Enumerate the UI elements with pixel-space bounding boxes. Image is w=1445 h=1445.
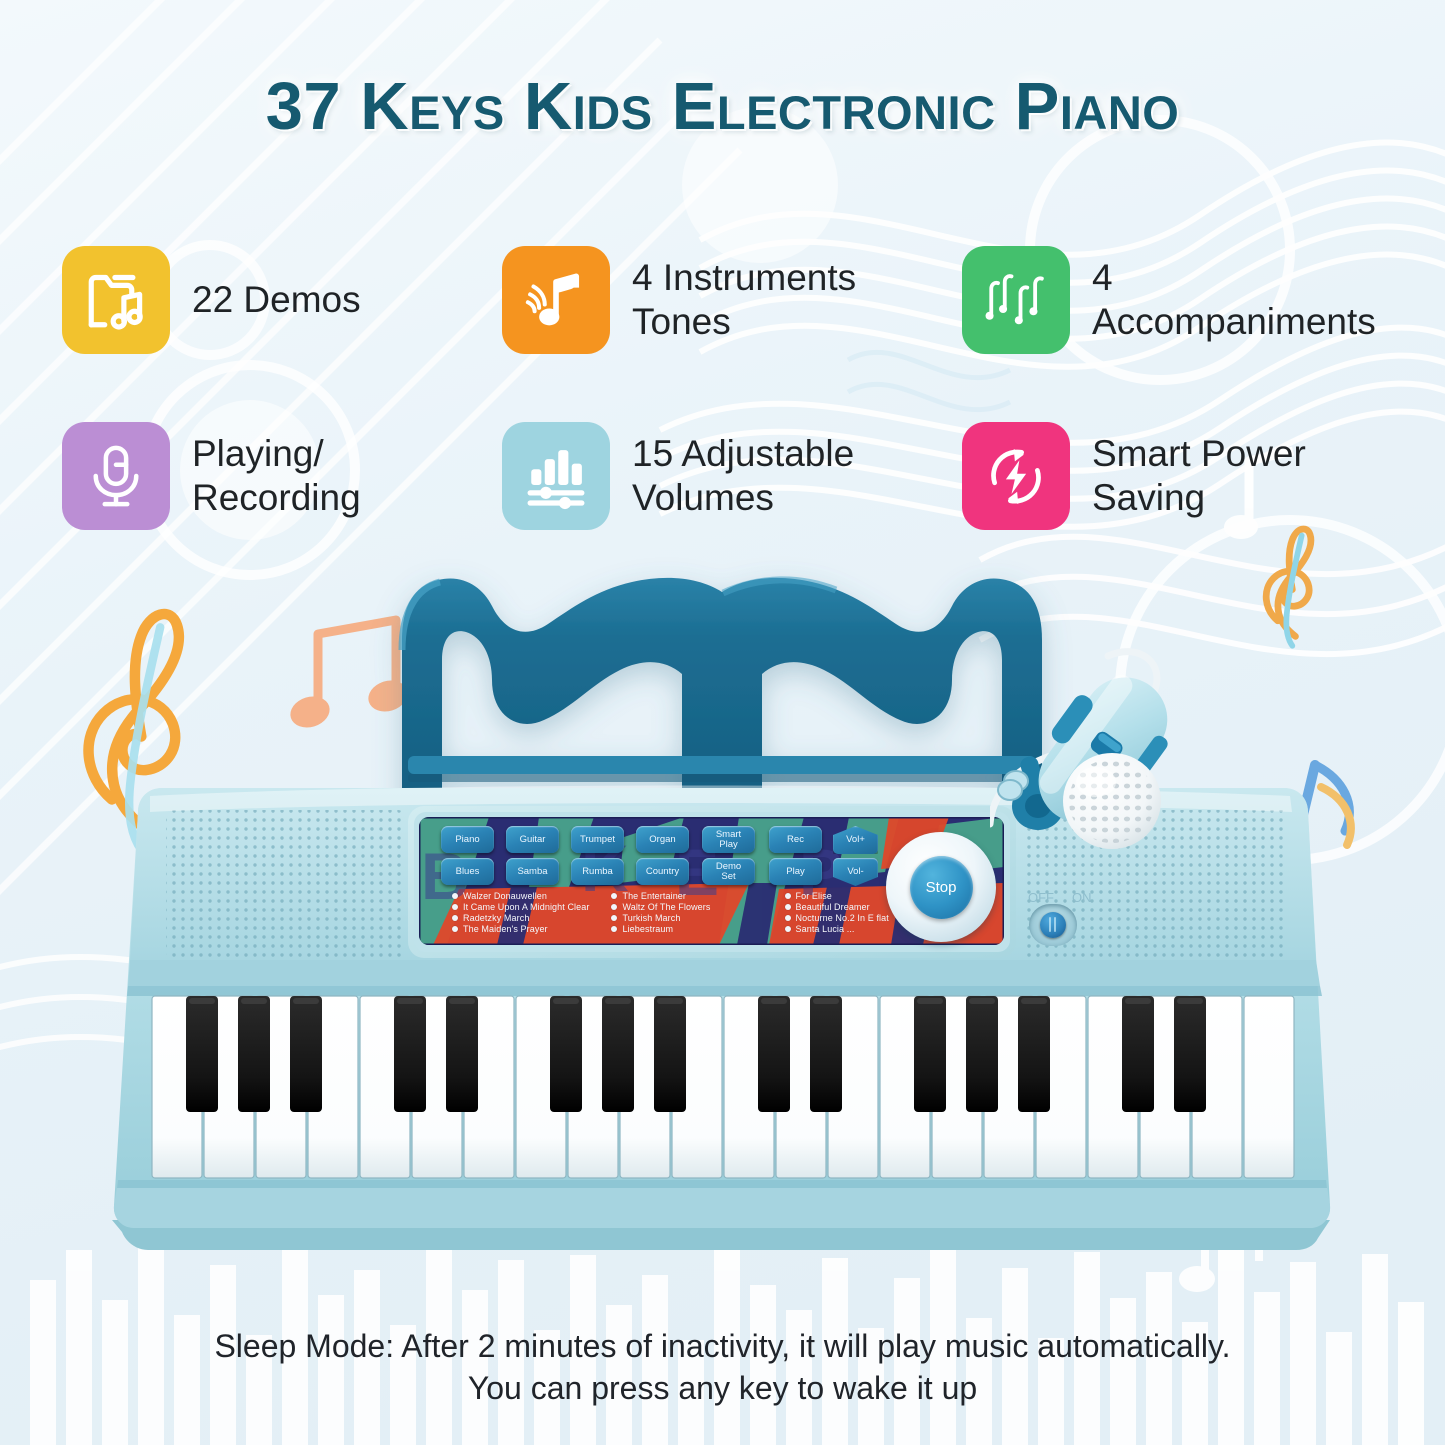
caption-line-1: Sleep Mode: After 2 minutes of inactivit… (0, 1326, 1445, 1368)
feature-item-power-saving: Smart Power Saving (962, 388, 1392, 564)
feature-label-power-saving: Smart Power Saving (1092, 432, 1306, 521)
bullet-icon (611, 915, 617, 921)
bullet-icon (611, 926, 617, 932)
bullet-icon (452, 915, 458, 921)
panel-button-piano[interactable]: Piano (441, 826, 494, 853)
song-list-item: The Entertainer (611, 891, 710, 901)
song-list-item: Walzer Donauwellen (452, 891, 589, 901)
equalizer-sliders-icon (520, 440, 592, 512)
power-switch[interactable] (1029, 904, 1077, 946)
sleep-mode-caption: Sleep Mode: After 2 minutes of inactivit… (0, 1326, 1445, 1409)
feature-item-volumes: 15 Adjustable Volumes (502, 388, 962, 564)
svg-text:ON: ON (1072, 890, 1092, 905)
panel-button-volume-down[interactable]: Vol- (833, 858, 878, 886)
stop-button[interactable]: Stop (910, 856, 973, 919)
panel-button-rec[interactable]: Rec (769, 826, 822, 853)
feature-label-volumes: 15 Adjustable Volumes (632, 432, 854, 521)
feature-item-accompaniments: 4 Accompaniments (962, 212, 1392, 388)
stop-knob-bezel[interactable]: Stop (886, 832, 996, 942)
feature-grid: 22 Demos 4 Instruments Tones (62, 212, 1392, 564)
panel-button-rumba[interactable]: Rumba (571, 858, 624, 885)
folder-music-icon (80, 264, 152, 336)
song-list-item: Radetzky March (452, 913, 589, 923)
song-list-item: It Came Upon A Midnight Clear (452, 902, 589, 912)
song-list-item: The Maiden's Prayer (452, 924, 589, 934)
bullet-icon (611, 893, 617, 899)
bullet-icon (785, 926, 791, 932)
bullet-icon (785, 904, 791, 910)
svg-text:OFF: OFF (1028, 890, 1054, 905)
song-list-item: Beautiful Dreamer (785, 902, 889, 912)
panel-button-guitar[interactable]: Guitar (506, 826, 559, 853)
panel-button-blues[interactable]: Blues (441, 858, 494, 885)
song-list-item: Santa Lucia ... (785, 924, 889, 934)
feature-icon-tile-accompaniments (962, 246, 1070, 354)
microphone-icon (80, 440, 152, 512)
bullet-icon (452, 904, 458, 910)
feature-item-demos: 22 Demos (62, 212, 502, 388)
song-column-2: The Entertainer Waltz Of The Flowers Tur… (611, 891, 710, 945)
feature-icon-tile-volumes (502, 422, 610, 530)
song-list-item: Nocturne No.2 In E flat (785, 913, 889, 923)
feature-label-demos: 22 Demos (192, 278, 361, 322)
bullet-icon (785, 915, 791, 921)
panel-button-samba[interactable]: Samba (506, 858, 559, 885)
bullet-icon (611, 904, 617, 910)
panel-button-trumpet[interactable]: Trumpet (571, 826, 624, 853)
power-switch-knob[interactable] (1040, 912, 1066, 938)
power-refresh-icon (980, 440, 1052, 512)
feature-icon-tile-tones (502, 246, 610, 354)
feature-label-recording: Playing/ Recording (192, 432, 361, 521)
song-column-3: For Elise Beautiful Dreamer Nocturne No.… (785, 891, 889, 945)
feature-label-accompaniments: 4 Accompaniments (1092, 256, 1392, 345)
bullet-icon (452, 893, 458, 899)
panel-button-demo-set[interactable]: Demo Set (702, 858, 755, 885)
bullet-icon (452, 926, 458, 932)
panel-button-organ[interactable]: Organ (636, 826, 689, 853)
panel-button-country[interactable]: Country (636, 858, 689, 885)
feature-icon-tile-demos (62, 246, 170, 354)
panel-button-smart-play[interactable]: Smart Play (702, 826, 755, 853)
feature-icon-tile-power-saving (962, 422, 1070, 530)
four-notes-icon (980, 264, 1052, 336)
song-column-1: Walzer Donauwellen It Came Upon A Midnig… (452, 891, 589, 945)
product-image-keyboard: OFF ON (0, 520, 1445, 1280)
song-list-item: Waltz Of The Flowers (611, 902, 710, 912)
feature-label-tones: 4 Instruments Tones (632, 256, 856, 345)
music-note-waves-icon (520, 264, 592, 336)
panel-button-volume-up[interactable]: Vol+ (833, 826, 878, 854)
song-list-item: Turkish March (611, 913, 710, 923)
caption-line-2: You can press any key to wake it up (0, 1368, 1445, 1410)
feature-item-tones: 4 Instruments Tones (502, 212, 962, 388)
microphone (990, 638, 1190, 888)
panel-button-play[interactable]: Play (769, 858, 822, 885)
song-list-item: For Elise (785, 891, 889, 901)
song-list-item: Liebestraum (611, 924, 710, 934)
title-zone: 37 Keys Kids Electronic Piano (0, 68, 1445, 145)
feature-item-recording: Playing/ Recording (62, 388, 502, 564)
page-title: 37 Keys Kids Electronic Piano (0, 68, 1445, 145)
bullet-icon (785, 893, 791, 899)
feature-icon-tile-recording (62, 422, 170, 530)
